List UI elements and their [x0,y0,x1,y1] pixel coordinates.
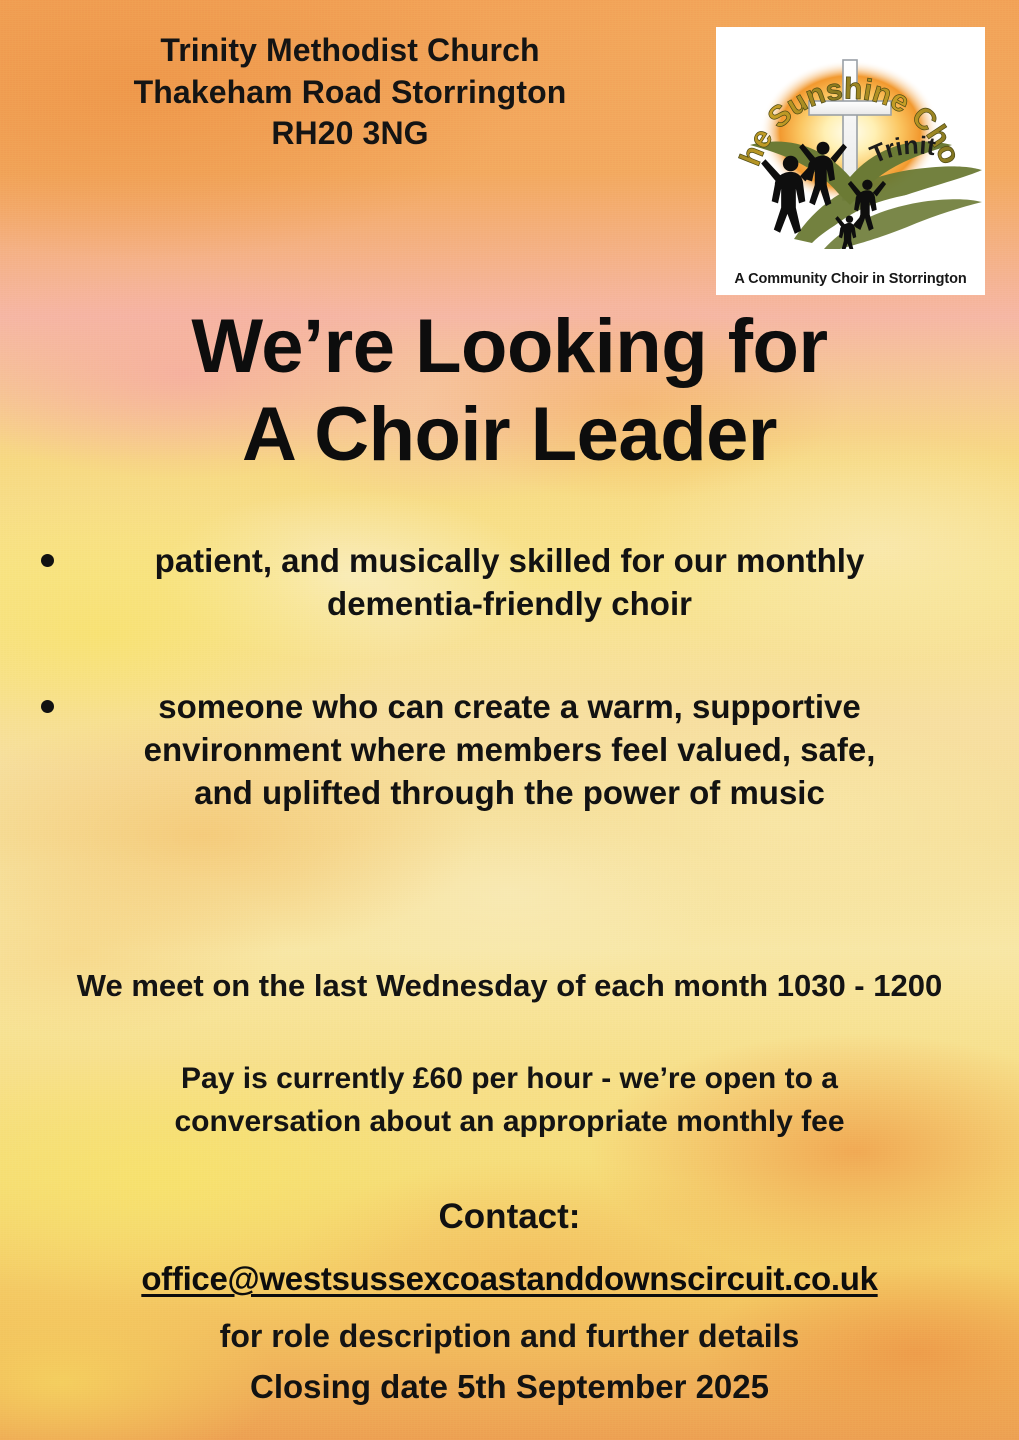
headline-line-2: A Choir Leader [0,391,1019,479]
pay-line-1: Pay is currently £60 per hour - we’re op… [0,1058,1019,1101]
logo-artwork: The Sunshine Choir Trinity [716,27,985,249]
bullet-1-line-1: patient, and musically skilled for our m… [30,540,989,583]
logo-svg: The Sunshine Choir Trinity [716,27,985,249]
address-line-1: Trinity Methodist Church [0,30,700,72]
headline-line-1: We’re Looking for [0,303,1019,391]
role-description-note: for role description and further details [0,1318,1019,1355]
bullet-1-line-2: dementia-friendly choir [30,583,989,626]
bullet-1-text: patient, and musically skilled for our m… [0,540,1019,626]
poster-canvas: Trinity Methodist Church Thakeham Road S… [0,0,1019,1440]
contact-label: Contact: [0,1197,1019,1237]
closing-date: Closing date 5th September 2025 [0,1368,1019,1406]
meeting-schedule: We meet on the last Wednesday of each mo… [0,968,1019,1004]
church-address: Trinity Methodist Church Thakeham Road S… [0,30,700,155]
requirements-list: patient, and musically skilled for our m… [0,540,1019,814]
pay-details: Pay is currently £60 per hour - we’re op… [0,1058,1019,1143]
list-item: someone who can create a warm, supportiv… [0,686,1019,815]
bullet-spacer [0,626,1019,686]
bullet-2-text: someone who can create a warm, supportiv… [0,686,1019,815]
page-title: We’re Looking for A Choir Leader [0,303,1019,479]
bullet-dot-icon [41,554,54,567]
bullet-2-line-3: and uplifted through the power of music [30,772,989,815]
sunshine-choir-logo: The Sunshine Choir Trinity [716,27,985,295]
bullet-2-line-1: someone who can create a warm, supportiv… [30,686,989,729]
list-item: patient, and musically skilled for our m… [0,540,1019,626]
pay-line-2: conversation about an appropriate monthl… [0,1101,1019,1144]
bullet-2-line-2: environment where members feel valued, s… [30,729,989,772]
bullet-dot-icon [41,700,54,713]
contact-email-link[interactable]: office@westsussexcoastanddownscircuit.co… [0,1260,1019,1298]
address-line-3: RH20 3NG [0,113,700,155]
address-line-2: Thakeham Road Storrington [0,72,700,114]
logo-tagline: A Community Choir in Storrington [716,271,985,287]
